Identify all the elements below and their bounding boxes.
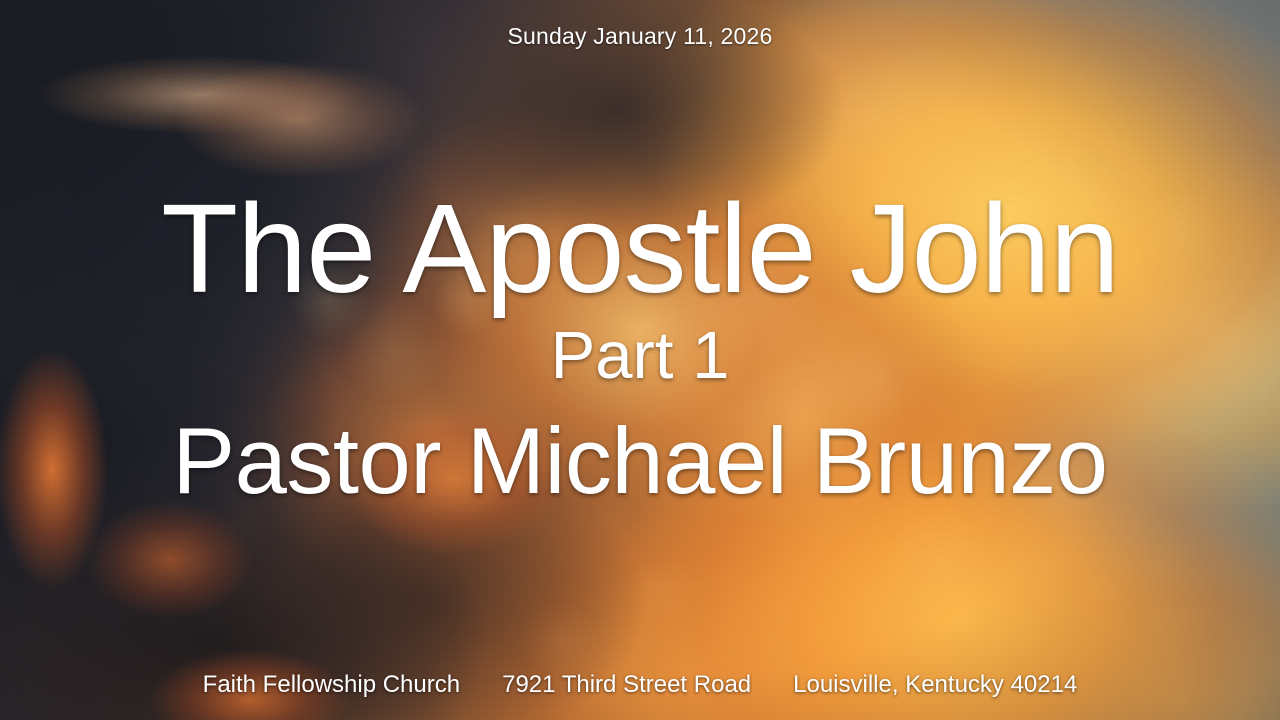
sermon-title-slide: Sunday January 11, 2026 The Apostle John… (0, 0, 1280, 720)
footer-street-address: 7921 Third Street Road (481, 671, 772, 699)
service-date: Sunday January 11, 2026 (0, 25, 1280, 48)
sermon-part-label: Part 1 (0, 322, 1280, 389)
footer-city-state-zip: Louisville, Kentucky 40214 (772, 671, 1098, 699)
footer-address-bar: Faith Fellowship Church 7921 Third Stree… (0, 671, 1280, 699)
sermon-title: The Apostle John (0, 186, 1280, 312)
speaker-name: Pastor Michael Brunzo (0, 414, 1280, 508)
footer-church-name: Faith Fellowship Church (182, 671, 481, 699)
